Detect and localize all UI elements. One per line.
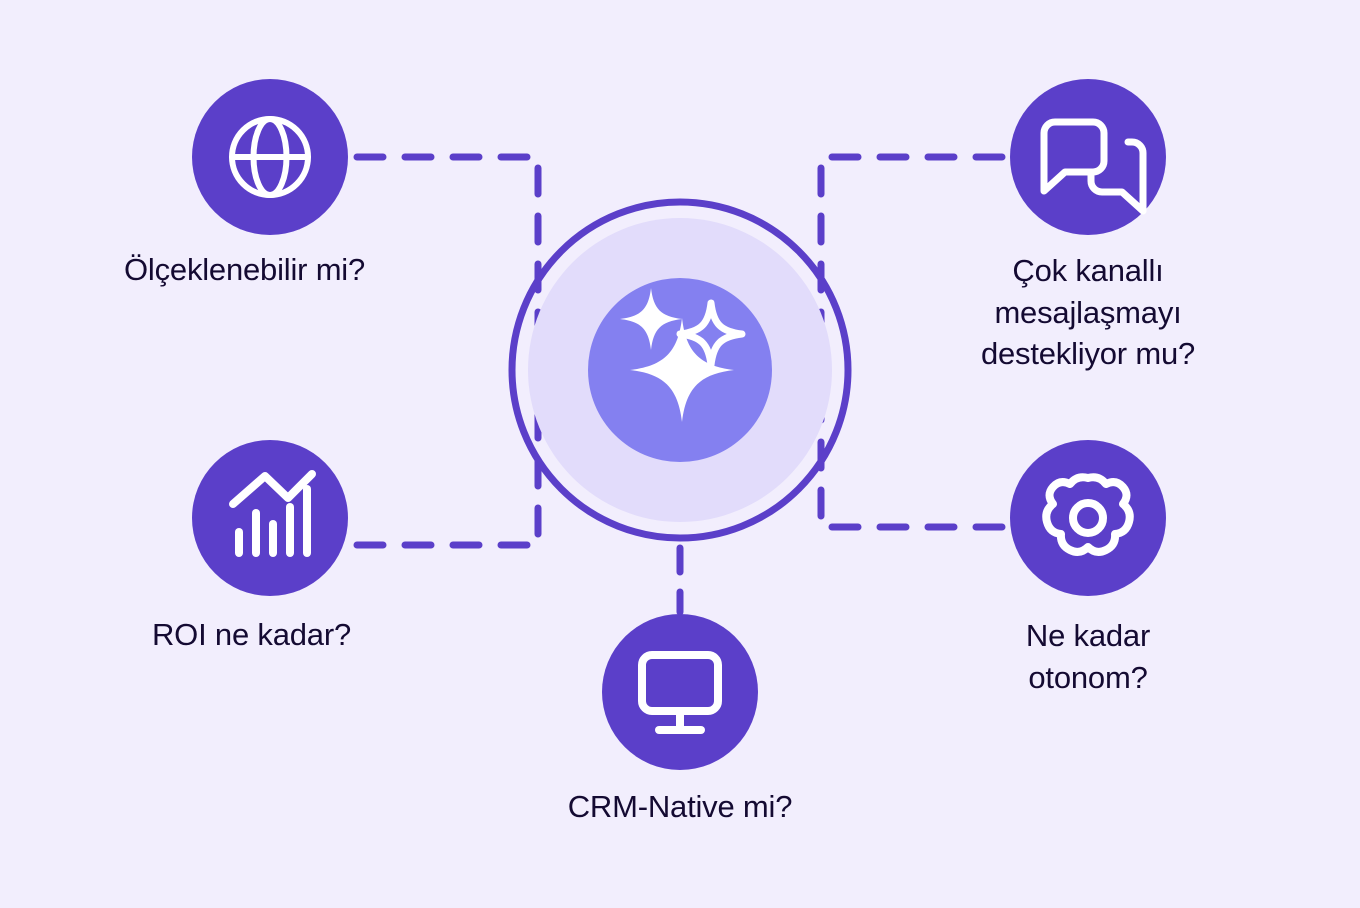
- node-circle: [192, 440, 348, 596]
- diagram-root: Ölçeklenebilir mi? Çok kanallı mesajlaşm…: [0, 0, 1360, 908]
- node-circle: [602, 614, 758, 770]
- hub-ai-core[interactable]: [512, 202, 848, 538]
- connector-multichannel: [821, 157, 1002, 330]
- node-roi[interactable]: [192, 440, 348, 596]
- node-crm-native[interactable]: [602, 614, 758, 770]
- node-multichannel[interactable]: [1010, 79, 1166, 235]
- diagram-canvas: [0, 0, 1360, 908]
- node-autonomy[interactable]: [1010, 440, 1166, 596]
- connector-roi: [357, 400, 538, 545]
- node-scalability[interactable]: [192, 79, 348, 235]
- connector-scalability: [357, 157, 538, 330]
- node-circle: [1010, 440, 1166, 596]
- connector-autonomy: [821, 400, 1002, 527]
